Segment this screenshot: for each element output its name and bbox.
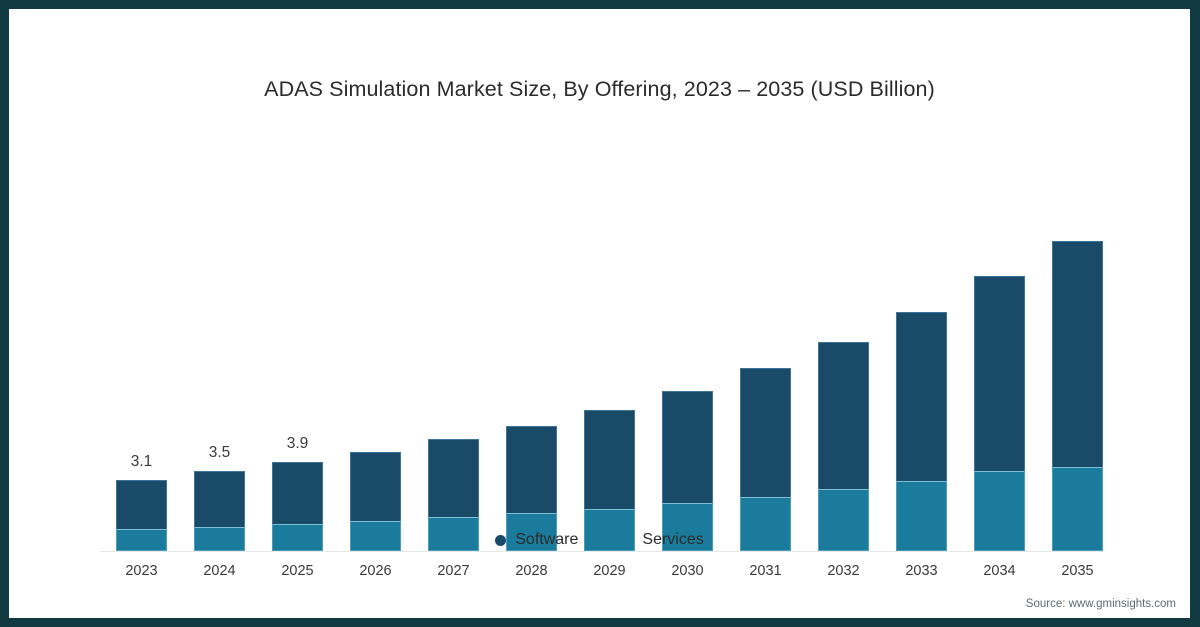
chart-legend: SoftwareServices [9, 531, 1190, 549]
bar-segment-software[interactable] [584, 410, 635, 509]
x-axis-tick-label: 2026 [359, 563, 391, 579]
bar-group[interactable]: 2035 [1052, 119, 1103, 581]
stacked-bar[interactable] [740, 368, 791, 551]
x-axis-tick-label: 2035 [1061, 563, 1093, 579]
x-axis-tick-label: 2025 [281, 563, 313, 579]
x-axis-tick-label: 2024 [203, 563, 235, 579]
legend-item[interactable]: Software [495, 531, 578, 549]
bar-segment-software[interactable] [272, 462, 323, 524]
stacked-bar[interactable] [974, 276, 1025, 551]
bar-group[interactable]: 3.12023 [116, 119, 167, 581]
figure-frame: ADAS Simulation Market Size, By Offering… [0, 0, 1200, 627]
bar-group[interactable]: 3.52024 [194, 119, 245, 581]
legend-label: Software [515, 531, 578, 549]
bar-segment-software[interactable] [194, 471, 245, 527]
stacked-bar[interactable] [662, 391, 713, 551]
bar-segment-software[interactable] [350, 452, 401, 521]
bar-segment-software[interactable] [740, 368, 791, 497]
bar-value-label: 3.9 [287, 435, 309, 453]
x-axis-tick-label: 2028 [515, 563, 547, 579]
legend-swatch-software-icon [495, 535, 506, 546]
bar-group[interactable]: 2029 [584, 119, 635, 581]
bar-group[interactable]: 2031 [740, 119, 791, 581]
stacked-bar[interactable] [584, 410, 635, 551]
chart-title: ADAS Simulation Market Size, By Offering… [9, 77, 1190, 102]
chart-canvas: ADAS Simulation Market Size, By Offering… [9, 9, 1190, 618]
x-axis-tick-label: 2033 [905, 563, 937, 579]
bar-group[interactable]: 2032 [818, 119, 869, 581]
bar-segment-software[interactable] [818, 342, 869, 489]
x-axis-tick-label: 2023 [125, 563, 157, 579]
x-axis-tick-label: 2032 [827, 563, 859, 579]
legend-label: Services [642, 531, 703, 549]
bar-group[interactable]: 3.92025 [272, 119, 323, 581]
bar-value-label: 3.1 [131, 453, 153, 471]
stacked-bar[interactable] [896, 312, 947, 551]
x-axis-tick-label: 2029 [593, 563, 625, 579]
bar-value-label: 3.5 [209, 444, 231, 462]
bar-group[interactable]: 2033 [896, 119, 947, 581]
bar-group[interactable]: 2027 [428, 119, 479, 581]
bar-group[interactable]: 2028 [506, 119, 557, 581]
source-attribution: Source: www.gminsights.com [1026, 598, 1176, 610]
bar-group[interactable]: 2030 [662, 119, 713, 581]
bar-segment-software[interactable] [974, 276, 1025, 471]
bar-segment-software[interactable] [662, 391, 713, 503]
bar-segment-software[interactable] [896, 312, 947, 481]
legend-item[interactable]: Services [622, 531, 703, 549]
bar-group[interactable]: 2026 [350, 119, 401, 581]
bar-segment-software[interactable] [428, 439, 479, 517]
bar-segment-software[interactable] [116, 480, 167, 529]
x-axis-tick-label: 2031 [749, 563, 781, 579]
bar-segment-software[interactable] [506, 426, 557, 513]
stacked-bar[interactable] [1052, 241, 1103, 551]
legend-swatch-services-icon [622, 535, 633, 546]
plot-area: 3.120233.520243.920252026202720282029203… [100, 119, 1100, 444]
stacked-bar[interactable] [818, 342, 869, 551]
bar-group[interactable]: 2034 [974, 119, 1025, 581]
x-axis-tick-label: 2034 [983, 563, 1015, 579]
x-axis-tick-label: 2027 [437, 563, 469, 579]
bar-segment-software[interactable] [1052, 241, 1103, 467]
x-axis-tick-label: 2030 [671, 563, 703, 579]
